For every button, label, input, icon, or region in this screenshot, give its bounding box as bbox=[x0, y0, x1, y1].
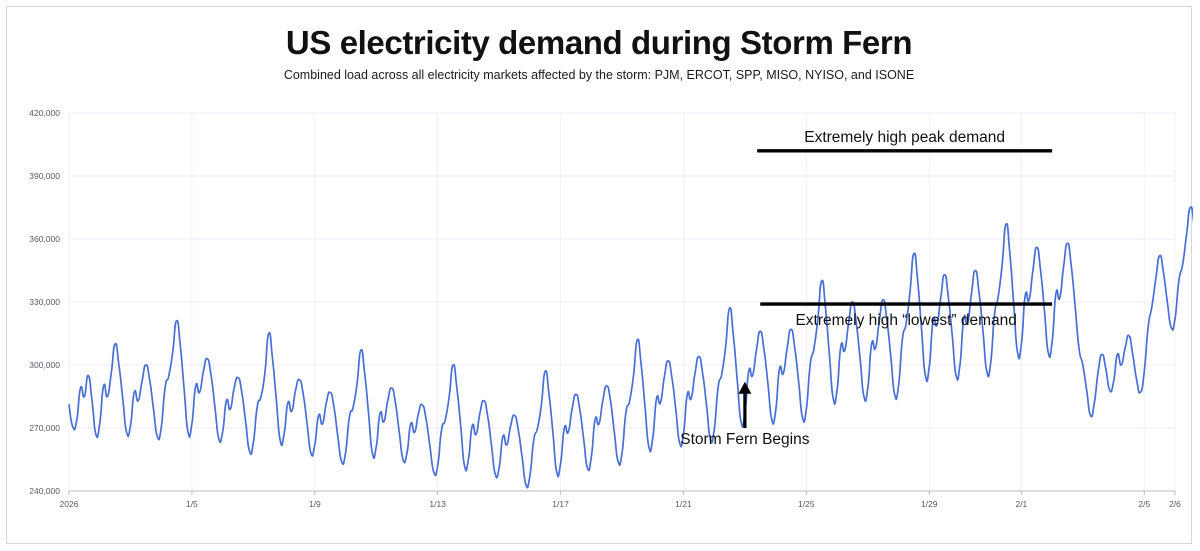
line-chart-svg: 240,000270,000300,000330,000360,000390,0… bbox=[7, 7, 1193, 545]
x-axis-tick-label: 1/17 bbox=[552, 499, 569, 509]
y-axis-tick-label: 360,000 bbox=[29, 234, 60, 244]
x-axis-tick-label: 2/5 bbox=[1138, 499, 1150, 509]
x-axis-tick-label: 2/1 bbox=[1015, 499, 1027, 509]
y-axis-tick-label: 420,000 bbox=[29, 108, 60, 118]
x-axis-tick-label: 1/25 bbox=[798, 499, 815, 509]
x-axis-tick-label: 2/6 bbox=[1169, 499, 1181, 509]
x-axis bbox=[69, 491, 1175, 495]
horizontal-gridlines bbox=[69, 113, 1175, 491]
x-axis-tick-label: 1/29 bbox=[921, 499, 938, 509]
annotation-label: Extremely high “lowest” demand bbox=[795, 312, 1016, 329]
annotation-label: Extremely high peak demand bbox=[804, 129, 1005, 146]
x-axis-tick-label: 1/5 bbox=[186, 499, 198, 509]
chart-card: US electricity demand during Storm Fern … bbox=[6, 6, 1192, 544]
annotation-label: Storm Fern Begins bbox=[680, 431, 809, 448]
plot-area: 240,000270,000300,000330,000360,000390,0… bbox=[7, 7, 1193, 545]
x-axis-tick-label: 1/9 bbox=[309, 499, 321, 509]
x-axis-tick-label: 1/21 bbox=[675, 499, 692, 509]
x-axis-tick-labels: 20261/51/91/131/171/211/251/292/12/52/6 bbox=[60, 499, 1182, 509]
chart-screenshot: US electricity demand during Storm Fern … bbox=[0, 0, 1200, 551]
y-axis-tick-label: 390,000 bbox=[29, 171, 60, 181]
y-axis-tick-label: 300,000 bbox=[29, 360, 60, 370]
x-axis-tick-label: 2026 bbox=[60, 499, 79, 509]
demand-line-path bbox=[69, 155, 1193, 488]
annotation-arrow-head bbox=[738, 382, 751, 394]
x-axis-tick-label: 1/13 bbox=[429, 499, 446, 509]
y-axis-tick-label: 240,000 bbox=[29, 486, 60, 496]
y-axis-tick-label: 330,000 bbox=[29, 297, 60, 307]
y-axis-tick-label: 270,000 bbox=[29, 423, 60, 433]
y-axis-tick-labels: 240,000270,000300,000330,000360,000390,0… bbox=[29, 108, 60, 496]
demand-series-line bbox=[69, 155, 1193, 488]
